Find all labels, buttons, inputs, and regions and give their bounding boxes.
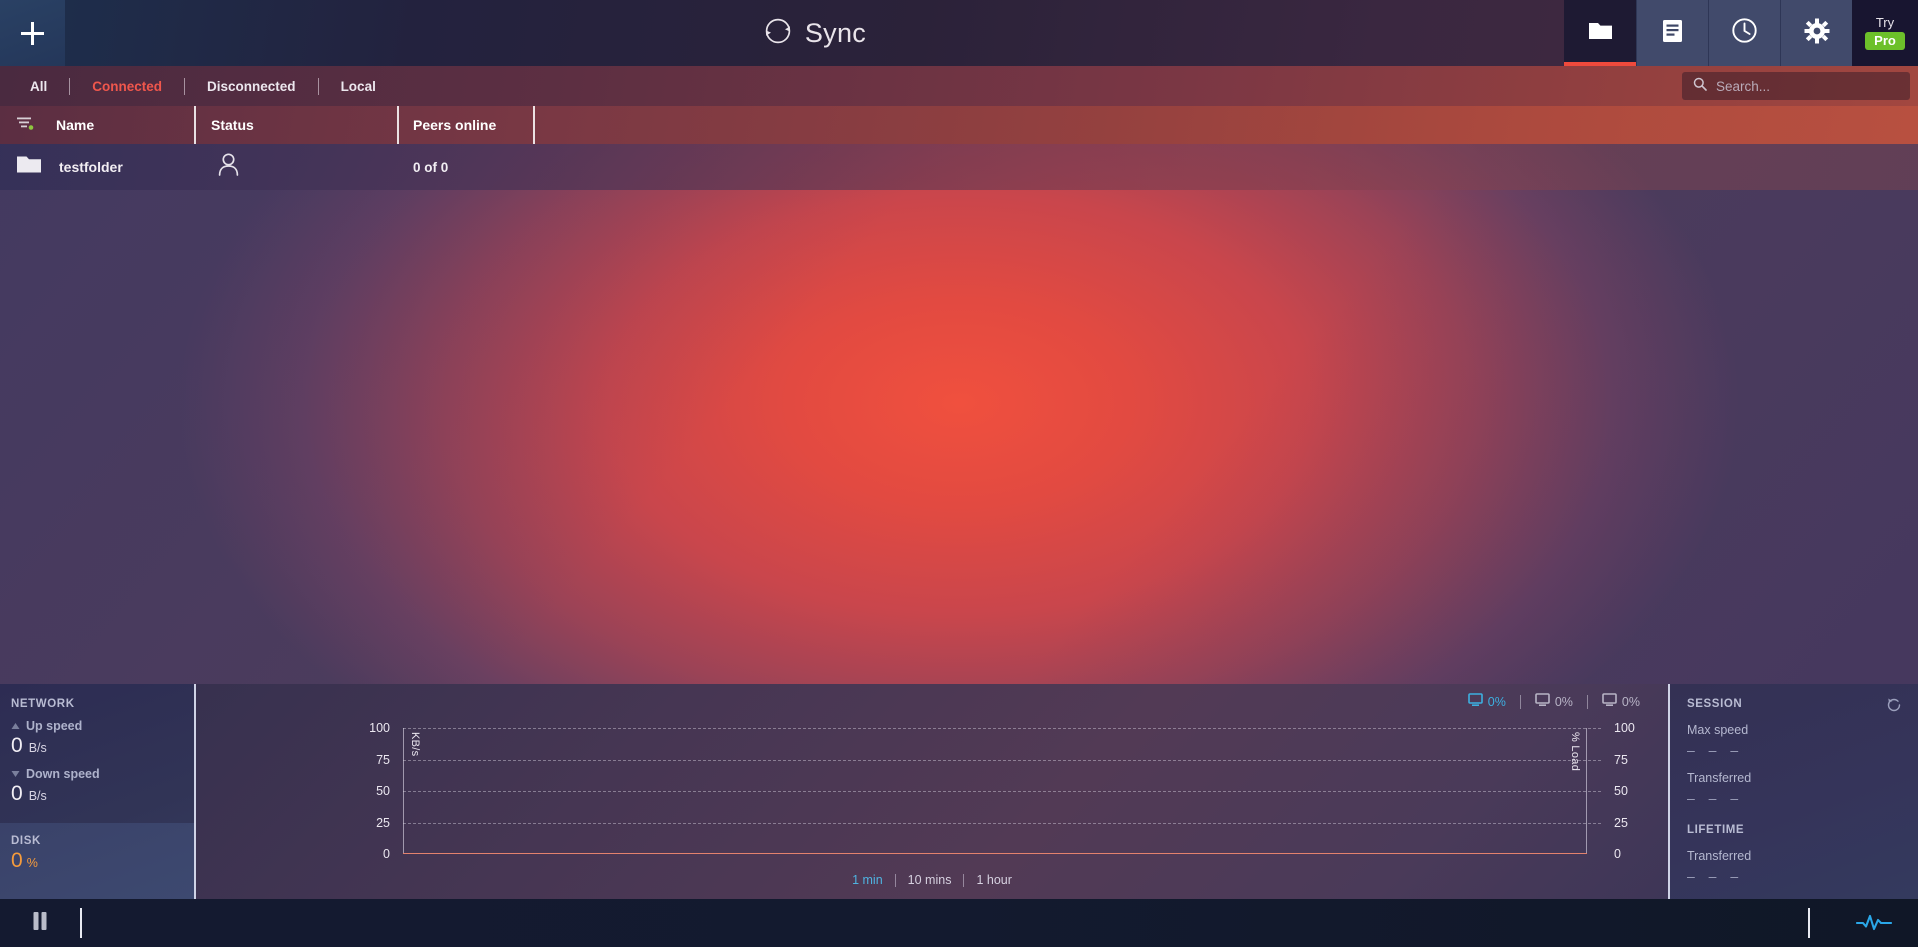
nav-icon-group: Try Pro [1564, 0, 1918, 66]
filter-bar: All Connected Disconnected Local Search.… [0, 66, 1918, 106]
column-header-status-label: Status [211, 117, 254, 133]
divider [80, 908, 82, 938]
y-tick-left-50: 50 [376, 784, 390, 798]
search-input[interactable]: Search... [1682, 72, 1910, 100]
network-stats: NETWORK Up speed 0 B/s Down speed [0, 684, 194, 806]
cpu-indicator-3-value: 0% [1622, 695, 1640, 709]
add-folder-button[interactable] [0, 0, 65, 66]
filter-tabs: All Connected Disconnected Local [0, 78, 398, 95]
speed-graph-panel: 0% 0% [196, 684, 1670, 899]
column-header-name-label: Name [56, 117, 94, 133]
disk-value: 0 [11, 849, 23, 873]
gridline-75 [403, 760, 1601, 761]
column-header-name[interactable]: Name [0, 106, 196, 144]
y-axis-label-left: KB/s [409, 732, 421, 756]
row-folder-name: testfolder [59, 159, 123, 175]
triangle-up-icon [11, 719, 20, 733]
gridline-100 [403, 728, 1601, 729]
column-header-peers-label: Peers online [413, 117, 496, 133]
gear-icon [1804, 18, 1830, 49]
up-speed-unit: B/s [29, 741, 47, 755]
status-bar [0, 899, 1918, 947]
folder-icon [16, 154, 42, 180]
status-bar-right [1808, 906, 1918, 940]
timespan-1min[interactable]: 1 min [840, 873, 895, 887]
column-header-status[interactable]: Status [196, 106, 399, 144]
cpu-indicator-1-value: 0% [1488, 695, 1506, 709]
up-speed-value: 0 [11, 734, 23, 758]
pause-icon [31, 910, 49, 937]
divider [184, 78, 185, 95]
y-tick-left-75: 75 [376, 753, 390, 767]
divider [1520, 695, 1521, 709]
nav-settings-tab[interactable] [1780, 0, 1852, 66]
person-icon [218, 153, 239, 181]
y-tick-left-25: 25 [376, 816, 390, 830]
try-pro-button[interactable]: Try Pro [1852, 0, 1918, 66]
dashboard: NETWORK Up speed 0 B/s Down speed [0, 684, 1918, 899]
down-speed-value-group: 0 B/s [11, 782, 194, 806]
column-header-filler [535, 106, 1918, 144]
y-tick-right-0: 0 [1614, 847, 1621, 861]
disk-unit: % [27, 856, 38, 870]
disk-value-group: 0 % [11, 849, 194, 873]
pause-button[interactable] [16, 906, 64, 940]
y-tick-right-100: 100 [1614, 721, 1635, 735]
cpu-load-indicators: 0% 0% [1454, 693, 1654, 710]
column-header-peers[interactable]: Peers online [399, 106, 535, 144]
session-transferred-label: Transferred [1687, 771, 1918, 785]
clock-icon [1731, 17, 1758, 49]
pro-badge: Pro [1865, 32, 1905, 50]
up-speed-label: Up speed [11, 719, 194, 733]
timespan-10mins[interactable]: 10 mins [896, 873, 964, 887]
y-tick-left-100: 100 [369, 721, 390, 735]
app-brand: Sync [65, 0, 1564, 66]
sync-circular-arrows-icon [763, 16, 793, 51]
down-speed-label: Down speed [11, 767, 194, 781]
cpu-indicator-1[interactable]: 0% [1454, 693, 1520, 710]
background-gradient [0, 144, 1918, 684]
lifetime-transferred-value: – – – [1687, 868, 1918, 884]
divider [69, 78, 70, 95]
top-bar: Sync [0, 0, 1918, 66]
divider [963, 874, 964, 887]
y-axis-label-right: % Load [1569, 732, 1581, 771]
y-axis-right [1586, 728, 1587, 854]
disk-panel: DISK 0 % [0, 823, 194, 899]
filter-tab-connected[interactable]: Connected [70, 79, 184, 94]
reset-arrow-icon[interactable] [1886, 697, 1902, 718]
timespan-selector: 1 min 10 mins 1 hour [196, 873, 1668, 887]
plus-icon [19, 20, 46, 47]
folder-list-area: testfolder 0 of 0 [0, 144, 1918, 684]
y-tick-right-75: 75 [1614, 753, 1628, 767]
y-tick-right-25: 25 [1614, 816, 1628, 830]
search-placeholder: Search... [1716, 79, 1770, 94]
row-peers-value: 0 of 0 [399, 160, 535, 175]
divider [318, 78, 319, 95]
session-title: SESSION [1687, 698, 1918, 710]
nav-devices-tab[interactable] [1636, 0, 1708, 66]
up-speed-value-group: 0 B/s [11, 734, 194, 758]
activity-button[interactable] [1850, 906, 1898, 940]
cpu-indicator-2[interactable]: 0% [1521, 693, 1587, 710]
row-name-cell: testfolder [0, 154, 196, 180]
nav-folders-tab[interactable] [1564, 0, 1636, 66]
divider [895, 874, 896, 887]
document-list-icon [1662, 19, 1683, 48]
gridline-25 [403, 823, 1601, 824]
y-tick-left-0: 0 [383, 847, 390, 861]
row-status-cell [196, 153, 399, 181]
nav-history-tab[interactable] [1708, 0, 1780, 66]
divider [1587, 695, 1588, 709]
filter-tab-disconnected[interactable]: Disconnected [185, 79, 318, 94]
session-max-speed-value: – – – [1687, 742, 1918, 758]
gridline-50 [403, 791, 1601, 792]
session-max-speed-label: Max speed [1687, 723, 1918, 737]
down-speed-unit: B/s [29, 789, 47, 803]
search-icon [1693, 77, 1707, 96]
monitor-icon [1468, 693, 1483, 710]
lifetime-title: LIFETIME [1687, 824, 1918, 836]
activity-pulse-icon [1856, 911, 1892, 936]
monitor-icon [1602, 693, 1617, 710]
network-title: NETWORK [11, 698, 194, 710]
folder-icon [1588, 20, 1613, 46]
filter-tab-local[interactable]: Local [319, 79, 398, 94]
filter-tab-all[interactable]: All [8, 79, 69, 94]
session-panel: SESSION Max speed – – – Transferred – – … [1670, 684, 1918, 899]
network-panel: NETWORK Up speed 0 B/s Down speed [0, 684, 196, 899]
cpu-indicator-2-value: 0% [1555, 695, 1573, 709]
down-speed-value: 0 [11, 782, 23, 806]
session-transferred-value: – – – [1687, 790, 1918, 806]
sort-filter-icon[interactable] [16, 116, 34, 134]
disk-title: DISK [11, 835, 194, 847]
triangle-down-icon [11, 767, 20, 781]
y-axis-left [403, 728, 404, 854]
try-label: Try [1876, 16, 1894, 29]
app-title: Sync [805, 18, 866, 49]
table-row[interactable]: testfolder 0 of 0 [0, 144, 1918, 190]
table-header: Name Status Peers online [0, 106, 1918, 144]
sync-app-window: Sync [0, 0, 1918, 947]
lifetime-transferred-label: Transferred [1687, 849, 1918, 863]
timespan-1hour[interactable]: 1 hour [964, 873, 1023, 887]
cpu-indicator-3[interactable]: 0% [1588, 693, 1654, 710]
chart-zero-series-line [403, 853, 1587, 854]
monitor-icon [1535, 693, 1550, 710]
speed-chart: 100 75 50 25 0 100 75 50 25 0 KB/s % Loa… [403, 728, 1601, 854]
divider [1808, 908, 1810, 938]
y-tick-right-50: 50 [1614, 784, 1628, 798]
